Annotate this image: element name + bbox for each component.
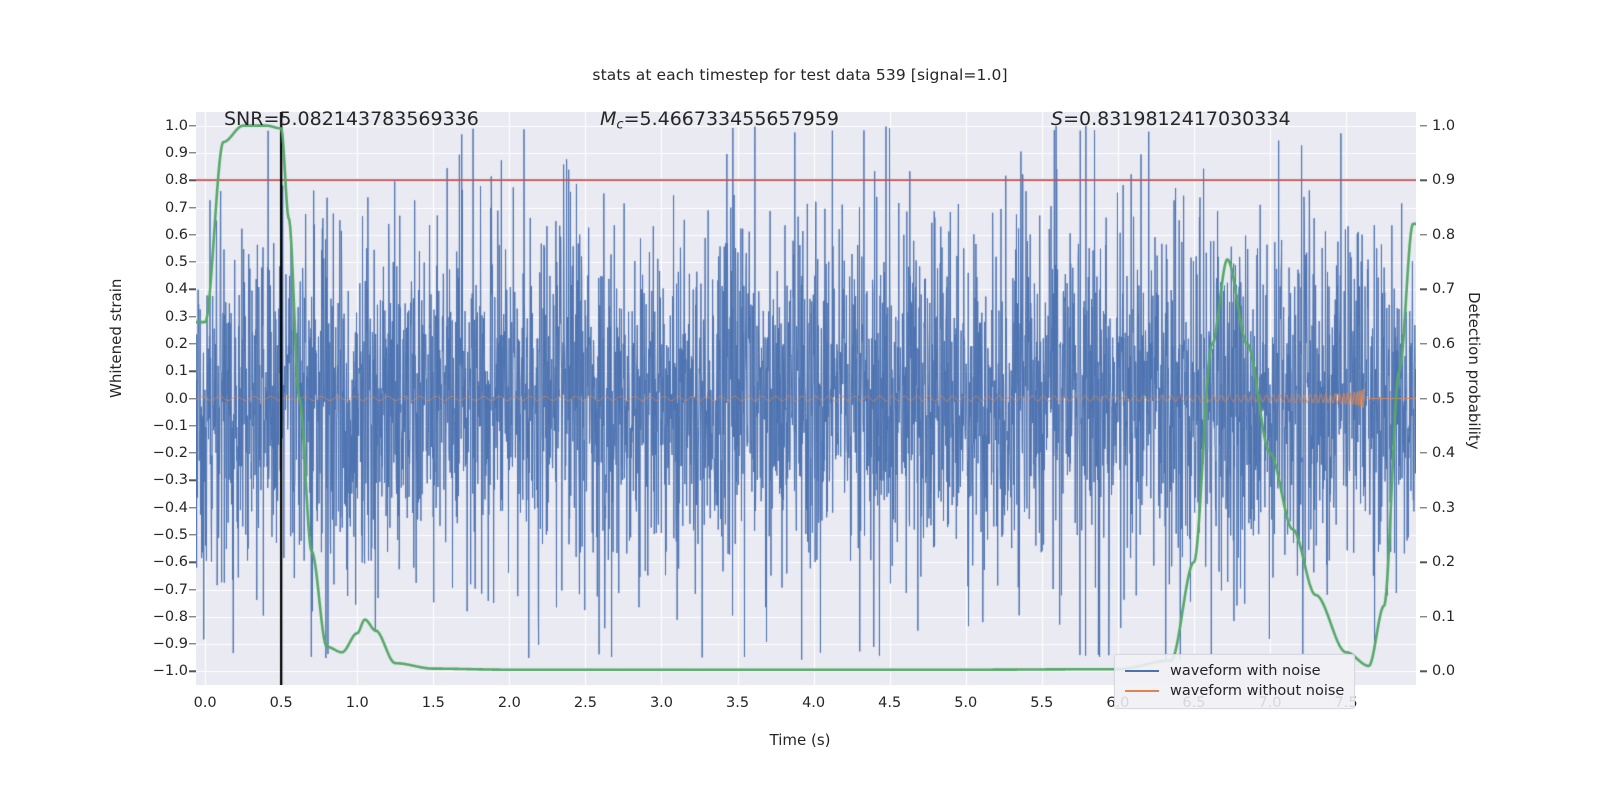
y-axis-left-tick-mark (189, 180, 196, 181)
y-axis-left-tick-mark (189, 534, 196, 535)
y-axis-right-tick-mark (1420, 398, 1427, 399)
y-axis-left-tick-mark (189, 616, 196, 617)
y-axis-left-tick-label: −0.7 (108, 582, 188, 598)
y-axis-left-tick-mark (189, 643, 196, 644)
y-axis-left-tick-mark (189, 125, 196, 126)
y-axis-right-label: Detection probability (1465, 292, 1483, 450)
y-axis-right-tick-label: 1.0 (1432, 118, 1512, 134)
y-axis-left-tick-mark (189, 261, 196, 262)
legend-swatch-noise (1125, 670, 1159, 673)
x-axis-tick-label: 3.5 (726, 695, 749, 711)
y-axis-left-tick-mark (189, 562, 196, 563)
x-axis-tick-label: 0.5 (270, 695, 293, 711)
data-layer (196, 112, 1416, 685)
y-axis-right-tick-label: 0.9 (1432, 172, 1512, 188)
y-axis-right-tick-label: 0.0 (1432, 663, 1512, 679)
annotation-chirp-mass: Mc=5.466733455657959 (600, 108, 839, 132)
y-axis-right-tick-mark (1420, 616, 1427, 617)
legend-label-noise: waveform with noise (1170, 663, 1321, 679)
y-axis-left-tick-mark (189, 207, 196, 208)
y-axis-right-tick-mark (1420, 452, 1427, 453)
y-axis-left-tick-mark (189, 507, 196, 508)
y-axis-left-tick-label: −0.9 (108, 636, 188, 652)
y-axis-right-tick-mark (1420, 343, 1427, 344)
y-axis-left-tick-mark (189, 452, 196, 453)
y-axis-left-tick-label: 0.7 (108, 200, 188, 216)
y-axis-left-tick-mark (189, 671, 196, 672)
annotation-snr: SNR=5.082143783569336 (224, 108, 479, 130)
y-axis-left-tick-mark (189, 316, 196, 317)
x-axis-tick-label: 4.0 (802, 695, 825, 711)
y-axis-left-tick-mark (189, 480, 196, 481)
legend-item[interactable]: waveform without noise (1125, 681, 1344, 701)
y-axis-left-tick-label: 0.9 (108, 145, 188, 161)
x-axis-tick-label: 1.5 (422, 695, 445, 711)
y-axis-left-label: Whitened strain (107, 279, 125, 398)
annotation-mc-symbol: M (600, 108, 616, 130)
x-axis-label: Time (s) (0, 731, 1600, 749)
y-axis-left-tick-label: −0.6 (108, 554, 188, 570)
y-axis-left-tick-label: −0.5 (108, 527, 188, 543)
annotation-mc-equals: = (624, 108, 640, 130)
x-axis-tick-label: 3.0 (650, 695, 673, 711)
annotation-score: S=0.8319812417030334 (1051, 108, 1291, 130)
y-axis-left-tick-label: 0.5 (108, 254, 188, 270)
legend-label-clean: waveform without noise (1170, 683, 1344, 699)
y-axis-right-tick-mark (1420, 507, 1427, 508)
y-axis-left-tick-mark (189, 398, 196, 399)
y-axis-left-tick-label: −0.3 (108, 472, 188, 488)
y-axis-right-tick-label: 0.2 (1432, 554, 1512, 570)
legend[interactable]: waveform with noise waveform without noi… (1114, 654, 1355, 709)
y-axis-right-tick-label: 0.8 (1432, 227, 1512, 243)
x-axis-tick-label: 2.5 (574, 695, 597, 711)
y-axis-left-tick-label: −0.8 (108, 609, 188, 625)
y-axis-left-tick-label: 0.8 (108, 172, 188, 188)
annotation-snr-label: SNR= (224, 108, 279, 130)
y-axis-right-tick-mark (1420, 562, 1427, 563)
annotation-s-value: 0.8319812417030334 (1079, 108, 1291, 130)
page-title: stats at each timestep for test data 539… (0, 66, 1600, 84)
y-axis-left-tick-label: −0.2 (108, 445, 188, 461)
y-axis-left-tick-label: −0.1 (108, 418, 188, 434)
legend-item[interactable]: waveform with noise (1125, 661, 1344, 681)
y-axis-right-tick-mark (1420, 289, 1427, 290)
legend-swatch-clean (1125, 690, 1159, 693)
x-axis-tick-label: 1.0 (346, 695, 369, 711)
x-axis-tick-label: 5.5 (1030, 695, 1053, 711)
y-axis-right-tick-label: 0.3 (1432, 500, 1512, 516)
y-axis-left-tick-label: −0.4 (108, 500, 188, 516)
y-axis-left-tick-label: 0.6 (108, 227, 188, 243)
y-axis-left-tick-mark (189, 425, 196, 426)
y-axis-left-tick-mark (189, 589, 196, 590)
y-axis-right-tick-mark (1420, 671, 1427, 672)
x-axis-tick-label: 4.5 (878, 695, 901, 711)
y-axis-left-tick-mark (189, 343, 196, 344)
annotation-mc-subscript: c (616, 117, 623, 132)
y-axis-right-tick-label: 0.1 (1432, 609, 1512, 625)
y-axis-right-tick-mark (1420, 180, 1427, 181)
annotation-mc-value: 5.466733455657959 (639, 108, 838, 130)
annotation-s-equals: = (1063, 108, 1079, 130)
y-axis-left-tick-label: 1.0 (108, 118, 188, 134)
y-axis-left-tick-label: −1.0 (108, 663, 188, 679)
x-axis-tick-label: 0.0 (194, 695, 217, 711)
x-axis-tick-label: 5.0 (954, 695, 977, 711)
annotation-s-symbol: S (1051, 108, 1063, 130)
y-axis-left-tick-mark (189, 234, 196, 235)
y-axis-right-tick-mark (1420, 234, 1427, 235)
plot-axes: SNR=5.082143783569336 Mc=5.4667334556579… (196, 112, 1416, 685)
y-axis-left-tick-mark (189, 152, 196, 153)
y-axis-left-tick-mark (189, 289, 196, 290)
y-axis-right-tick-mark (1420, 125, 1427, 126)
y-axis-left-tick-mark (189, 371, 196, 372)
annotation-snr-value: 5.082143783569336 (279, 108, 478, 130)
x-axis-tick-label: 2.0 (498, 695, 521, 711)
figure-canvas: stats at each timestep for test data 539… (0, 0, 1600, 800)
